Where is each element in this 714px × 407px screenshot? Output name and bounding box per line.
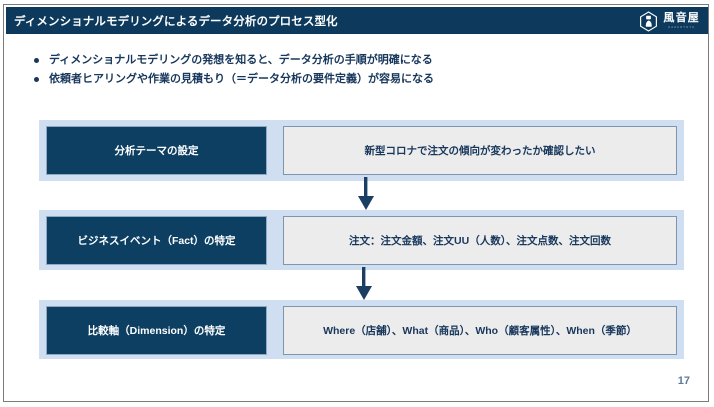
flow-step-label: 比較軸（Dimension）の特定 (88, 323, 226, 338)
flow-step-label-box: 分析テーマの設定 (46, 126, 267, 175)
page-number: 17 (678, 375, 690, 387)
flow-step-label: 分析テーマの設定 (115, 143, 199, 158)
flow-step-value-box: 注文：注文金額、注文UU（人数）、注文点数、注文回数 (283, 216, 677, 265)
bullet-text: ディメンショナルモデリングの発想を知ると、データ分析の手順が明確になる (49, 53, 433, 68)
arrow-down-icon (352, 267, 376, 301)
bullet-dot-icon (34, 77, 39, 82)
page-title: ディメンショナルモデリングによるデータ分析のプロセス型化 (14, 13, 338, 29)
bullet-list: ディメンショナルモデリングの発想を知ると、データ分析の手順が明確になる 依頼者ヒ… (34, 53, 654, 91)
bullet-text: 依頼者ヒアリングや作業の見積もり（＝データ分析の要件定義）が容易になる (49, 72, 434, 87)
list-item: ディメンショナルモデリングの発想を知ると、データ分析の手順が明確になる (34, 53, 654, 68)
flow-step-value: 新型コロナで注文の傾向が変わったか確認したい (365, 143, 596, 158)
logo-wordmark: 風音屋 KAZAOTOYA (663, 13, 700, 29)
flow-step-value-box: Where（店舗）、What（商品）、Who（顧客属性）、When（季節） (283, 306, 677, 355)
flow-row: 比較軸（Dimension）の特定 Where（店舗）、What（商品）、Who… (39, 300, 684, 359)
flow-step-label: ビジネスイベント（Fact）の特定 (77, 233, 235, 248)
flow-step-value: 注文：注文金額、注文UU（人数）、注文点数、注文回数 (349, 233, 611, 248)
list-item: 依頼者ヒアリングや作業の見積もり（＝データ分析の要件定義）が容易になる (34, 72, 654, 87)
bullet-dot-icon (34, 58, 39, 63)
flow-step-label-box: 比較軸（Dimension）の特定 (46, 306, 267, 355)
slide-header-bar: ディメンショナルモデリングによるデータ分析のプロセス型化 風音屋 KAZAOTO… (6, 7, 708, 34)
hexagon-person-logo-icon (638, 11, 659, 32)
flow-step-label-box: ビジネスイベント（Fact）の特定 (46, 216, 267, 265)
flow-step-value-box: 新型コロナで注文の傾向が変わったか確認したい (283, 126, 677, 175)
logo-text: 風音屋 (663, 13, 700, 24)
flow-row: ビジネスイベント（Fact）の特定 注文：注文金額、注文UU（人数）、注文点数、… (39, 210, 684, 270)
flow-step-value: Where（店舗）、What（商品）、Who（顧客属性）、When（季節） (323, 323, 637, 338)
arrow-down-icon (354, 177, 378, 211)
brand-logo: 風音屋 KAZAOTOYA (638, 10, 700, 32)
flow-row: 分析テーマの設定 新型コロナで注文の傾向が変わったか確認したい (39, 120, 684, 181)
slide-canvas: ディメンショナルモデリングによるデータ分析のプロセス型化 風音屋 KAZAOTO… (3, 4, 709, 402)
logo-subtext: KAZAOTOYA (668, 26, 695, 29)
